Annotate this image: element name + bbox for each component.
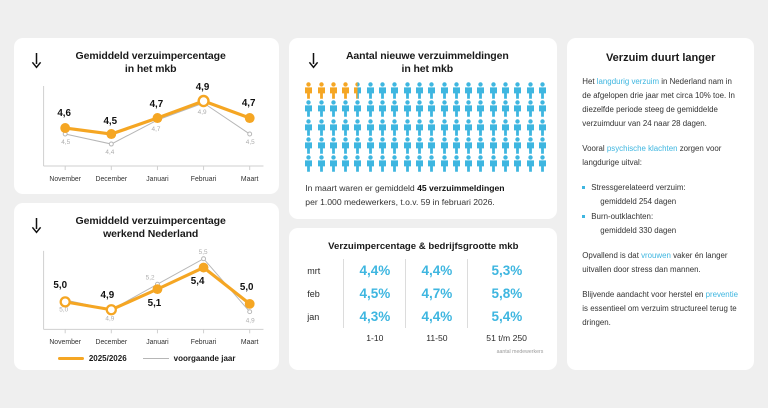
chart2-svg: 5,0 4,9 5,2 5,5 4,9 5,0 4,9 5,1 5,4 xyxy=(22,243,271,353)
person-icon xyxy=(525,100,536,117)
person-icon xyxy=(451,155,462,172)
right-column: Verzuim duurt langer Het langdurig verzu… xyxy=(567,38,754,370)
person-icon xyxy=(537,137,548,154)
svg-text:4,7: 4,7 xyxy=(152,126,161,133)
person-icon xyxy=(537,100,548,117)
cell-mrt-1-10: 4,4% xyxy=(344,259,406,282)
picto-title-line1: Aantal nieuwe verzuimmeldingen xyxy=(325,50,529,63)
person-icon xyxy=(475,100,486,117)
right-panel-body: Het langdurig verzuim in Nederland nam i… xyxy=(582,75,739,330)
table-footnote: aantal medewerkers xyxy=(301,347,545,355)
person-icon xyxy=(463,100,474,117)
person-icon xyxy=(500,155,511,172)
person-icon xyxy=(451,137,462,154)
column-label-51-250: 51 t/m 250 xyxy=(468,328,545,347)
person-icon xyxy=(340,100,351,117)
bullet-label-stress: Stressgerelateerd verzuim: xyxy=(591,183,685,192)
person-icon xyxy=(377,100,388,117)
legend-swatch-grey-icon xyxy=(143,358,169,359)
person-icon xyxy=(426,137,437,154)
column-label-1-10: 1-10 xyxy=(344,328,406,347)
person-icon xyxy=(463,82,474,99)
list-item: Burn-outklachten: gemiddeld 330 dagen xyxy=(582,210,739,238)
p4-text-b: is essentieel om verzuim structureel ter… xyxy=(582,304,736,327)
arrow-down-icon xyxy=(28,215,44,234)
person-icon xyxy=(475,82,486,99)
person-icon xyxy=(340,119,351,136)
chart1-svg: 4,5 4,4 4,7 4,9 4,5 4,6 4,5 4,7 4,9 xyxy=(22,78,271,190)
middle-column: Aantal nieuwe verzuimmeldingen in het mk… xyxy=(289,38,557,370)
picto-header: Aantal nieuwe verzuimmeldingen in het mk… xyxy=(299,48,547,76)
card-pictogram-meldingen: Aantal nieuwe verzuimmeldingen in het mk… xyxy=(289,38,557,219)
highlight-psychische-klachten: psychische klachten xyxy=(607,144,678,153)
person-icon xyxy=(475,119,486,136)
arrow-down-icon xyxy=(28,50,44,69)
picto-note-part1: In maart waren er gemiddeld xyxy=(305,183,417,193)
person-icon xyxy=(328,119,339,136)
svg-text:5,5: 5,5 xyxy=(199,249,208,256)
svg-text:Februari: Februari xyxy=(191,339,217,346)
person-icon xyxy=(340,82,351,99)
p2-text-a: Vooral xyxy=(582,144,607,153)
person-icon xyxy=(352,119,363,136)
person-icon xyxy=(303,119,314,136)
person-icon xyxy=(500,137,511,154)
card-chart-mkb: Gemiddeld verzuimpercentage in het mkb xyxy=(14,38,279,194)
person-icon xyxy=(512,100,523,117)
person-icon xyxy=(426,155,437,172)
person-icon xyxy=(316,82,327,99)
pictogram-grid xyxy=(299,76,551,176)
person-icon xyxy=(352,155,363,172)
chart2-header: Gemiddeld verzuimpercentage werkend Nede… xyxy=(22,213,271,241)
person-icon xyxy=(439,155,450,172)
person-icon xyxy=(377,137,388,154)
person-icon xyxy=(414,119,425,136)
left-column: Gemiddeld verzuimpercentage in het mkb xyxy=(14,38,279,370)
person-icon xyxy=(463,155,474,172)
card-table-bedrijfsgrootte: Verzuimpercentage & bedrijfsgrootte mkb … xyxy=(289,228,557,370)
paragraph-psychische-klachten: Vooral psychische klachten zorgen voor l… xyxy=(582,142,739,170)
person-icon xyxy=(500,119,511,136)
person-icon xyxy=(426,100,437,117)
p3-text-a: Opvallend is dat xyxy=(582,251,641,260)
chart2-title: Gemiddeld verzuimpercentage werkend Nede… xyxy=(48,215,267,241)
svg-text:4,5: 4,5 xyxy=(246,139,255,146)
person-icon xyxy=(488,137,499,154)
column-label-11-50: 11-50 xyxy=(406,328,468,347)
person-icon xyxy=(365,137,376,154)
svg-text:4,5: 4,5 xyxy=(103,116,117,127)
person-icon xyxy=(402,100,413,117)
person-icon xyxy=(451,100,462,117)
person-icon xyxy=(303,100,314,117)
person-icon xyxy=(512,155,523,172)
person-icon xyxy=(525,155,536,172)
person-icon xyxy=(303,155,314,172)
chart-legend: 2025/2026 voorgaande jaar xyxy=(22,353,271,366)
person-icon xyxy=(512,82,523,99)
svg-text:5,2: 5,2 xyxy=(146,274,155,281)
person-icon xyxy=(340,155,351,172)
svg-text:4,9: 4,9 xyxy=(196,82,210,93)
person-icon xyxy=(414,137,425,154)
chart1-title-line1: Gemiddeld verzuimpercentage xyxy=(48,50,253,63)
person-icon xyxy=(500,100,511,117)
person-icon xyxy=(365,155,376,172)
person-icon xyxy=(377,82,388,99)
picto-note-bold: 45 verzuimmeldingen xyxy=(417,183,504,193)
cell-jan-1-10: 4,3% xyxy=(344,305,406,328)
picto-note: In maart waren er gemiddeld 45 verzuimme… xyxy=(299,176,547,211)
bullet-value-burnout: gemiddeld 330 dagen xyxy=(591,224,739,238)
legend-swatch-orange-icon xyxy=(58,357,84,361)
chart2-plot: 5,0 4,9 5,2 5,5 4,9 5,0 4,9 5,1 5,4 xyxy=(22,243,271,353)
svg-text:5,4: 5,4 xyxy=(191,276,205,287)
person-icon xyxy=(414,155,425,172)
svg-text:Maart: Maart xyxy=(241,176,259,183)
arrow-down-icon xyxy=(305,50,321,69)
paragraph-langdurig-verzuim: Het langdurig verzuim in Nederland nam i… xyxy=(582,75,739,131)
svg-text:4,5: 4,5 xyxy=(61,139,70,146)
person-icon xyxy=(389,137,400,154)
person-icon xyxy=(488,100,499,117)
legend-label-current: 2025/2026 xyxy=(89,354,127,363)
p4-text-a: Blijvende aandacht voor herstel en xyxy=(582,290,705,299)
chart1-plot: 4,5 4,4 4,7 4,9 4,5 4,6 4,5 4,7 4,9 xyxy=(22,78,271,190)
svg-text:4,7: 4,7 xyxy=(150,99,164,110)
svg-text:Januari: Januari xyxy=(146,339,169,346)
list-item: Stressgerelateerd verzuim: gemiddeld 254… xyxy=(582,181,739,209)
svg-text:4,6: 4,6 xyxy=(57,108,71,119)
paragraph-vrouwen: Opvallend is dat vrouwen vaker én langer… xyxy=(582,249,739,277)
cell-feb-11-50: 4,7% xyxy=(406,282,468,305)
person-icon xyxy=(389,82,400,99)
highlight-vrouwen: vrouwen xyxy=(641,251,671,260)
person-icon xyxy=(340,137,351,154)
svg-text:December: December xyxy=(95,339,127,346)
person-icon xyxy=(352,82,363,99)
person-icon xyxy=(316,137,327,154)
legend-label-previous: voorgaande jaar xyxy=(174,354,236,363)
person-icon xyxy=(451,119,462,136)
picto-title-line2: in het mkb xyxy=(325,63,529,76)
person-icon xyxy=(402,119,413,136)
row-label-feb: feb xyxy=(301,282,344,305)
svg-text:4,9: 4,9 xyxy=(198,109,207,116)
person-icon xyxy=(316,100,327,117)
person-icon xyxy=(402,137,413,154)
person-icon xyxy=(303,137,314,154)
svg-text:Februari: Februari xyxy=(191,176,217,183)
person-icon xyxy=(488,155,499,172)
person-icon xyxy=(365,119,376,136)
chart2-title-line1: Gemiddeld verzuimpercentage xyxy=(48,215,253,228)
bullet-label-burnout: Burn-outklachten: xyxy=(591,212,653,221)
table-corner-cell xyxy=(301,328,344,347)
cell-jan-51-250: 5,4% xyxy=(468,305,545,328)
person-icon xyxy=(439,82,450,99)
svg-text:5,0: 5,0 xyxy=(240,282,254,293)
svg-text:4,9: 4,9 xyxy=(105,316,114,323)
right-panel-title: Verzuim duurt langer xyxy=(582,52,739,75)
bullet-list: Stressgerelateerd verzuim: gemiddeld 254… xyxy=(582,181,739,238)
row-label-mrt: mrt xyxy=(301,259,344,282)
chart1-header: Gemiddeld verzuimpercentage in het mkb xyxy=(22,48,271,76)
person-icon xyxy=(377,155,388,172)
svg-text:November: November xyxy=(49,176,81,183)
person-icon xyxy=(439,100,450,117)
person-icon xyxy=(512,137,523,154)
person-icon xyxy=(488,82,499,99)
p1-text-a: Het xyxy=(582,77,596,86)
person-icon xyxy=(463,137,474,154)
person-icon xyxy=(451,82,462,99)
cell-jan-11-50: 4,4% xyxy=(406,305,468,328)
cell-mrt-11-50: 4,4% xyxy=(406,259,468,282)
person-icon xyxy=(328,137,339,154)
cell-mrt-51-250: 5,3% xyxy=(468,259,545,282)
card-chart-nederland: Gemiddeld verzuimpercentage werkend Nede… xyxy=(14,203,279,370)
person-icon xyxy=(389,100,400,117)
highlight-langdurig-verzuim: langdurig verzuim xyxy=(597,77,659,86)
person-icon xyxy=(365,100,376,117)
dashboard: Gemiddeld verzuimpercentage in het mkb xyxy=(0,0,768,408)
person-icon xyxy=(414,100,425,117)
legend-item-previous: voorgaande jaar xyxy=(143,354,236,363)
person-icon xyxy=(439,137,450,154)
person-icon xyxy=(525,137,536,154)
person-icon xyxy=(537,82,548,99)
highlight-preventie: preventie xyxy=(706,290,738,299)
person-icon xyxy=(426,119,437,136)
svg-text:November: November xyxy=(49,339,81,346)
bedrijfsgrootte-table: mrt 4,4% 4,4% 5,3% feb 4,5% 4,7% 5,8% ja… xyxy=(301,259,545,347)
person-icon xyxy=(525,82,536,99)
person-icon xyxy=(328,82,339,99)
picto-note-part2: per 1.000 medewerkers, t.o.v. 59 in febr… xyxy=(305,197,495,207)
person-icon xyxy=(402,82,413,99)
svg-text:4,4: 4,4 xyxy=(105,149,114,156)
person-icon xyxy=(537,119,548,136)
person-icon xyxy=(439,119,450,136)
svg-text:4,7: 4,7 xyxy=(242,98,256,109)
legend-item-current: 2025/2026 xyxy=(58,354,127,363)
svg-text:4,9: 4,9 xyxy=(246,318,255,325)
person-icon xyxy=(537,155,548,172)
person-icon xyxy=(352,100,363,117)
svg-text:5,1: 5,1 xyxy=(148,298,162,309)
person-icon xyxy=(316,155,327,172)
person-icon xyxy=(512,119,523,136)
table-column-header-row: 1-10 11-50 51 t/m 250 xyxy=(301,328,545,347)
chart1-title-line2: in het mkb xyxy=(48,63,253,76)
svg-text:Januari: Januari xyxy=(146,176,169,183)
card-verzuim-duurt-langer: Verzuim duurt langer Het langdurig verzu… xyxy=(567,38,754,370)
chart2-title-line2: werkend Nederland xyxy=(48,228,253,241)
chart1-title: Gemiddeld verzuimpercentage in het mkb xyxy=(48,50,267,76)
paragraph-preventie: Blijvende aandacht voor herstel en preve… xyxy=(582,288,739,330)
bullet-value-stress: gemiddeld 254 dagen xyxy=(591,195,739,209)
person-icon xyxy=(352,137,363,154)
person-icon xyxy=(500,82,511,99)
cell-feb-51-250: 5,8% xyxy=(468,282,545,305)
person-icon xyxy=(328,100,339,117)
table-row: feb 4,5% 4,7% 5,8% xyxy=(301,282,545,305)
person-icon xyxy=(488,119,499,136)
person-icon xyxy=(365,82,376,99)
person-icon xyxy=(475,137,486,154)
svg-text:4,9: 4,9 xyxy=(101,290,115,301)
svg-text:5,0: 5,0 xyxy=(59,307,68,314)
person-icon xyxy=(303,82,314,99)
svg-text:Maart: Maart xyxy=(241,339,259,346)
svg-text:5,0: 5,0 xyxy=(53,280,67,291)
cell-feb-1-10: 4,5% xyxy=(344,282,406,305)
person-icon xyxy=(426,82,437,99)
person-icon xyxy=(377,119,388,136)
person-icon xyxy=(475,155,486,172)
table-row: mrt 4,4% 4,4% 5,3% xyxy=(301,259,545,282)
picto-title: Aantal nieuwe verzuimmeldingen in het mk… xyxy=(325,50,543,76)
svg-text:December: December xyxy=(96,176,128,183)
row-label-jan: jan xyxy=(301,305,344,328)
person-icon xyxy=(316,119,327,136)
table-title: Verzuimpercentage & bedrijfsgrootte mkb xyxy=(301,238,545,259)
person-icon xyxy=(328,155,339,172)
person-icon xyxy=(414,82,425,99)
person-icon xyxy=(389,155,400,172)
person-icon xyxy=(525,119,536,136)
table-row: jan 4,3% 4,4% 5,4% xyxy=(301,305,545,328)
person-icon xyxy=(463,119,474,136)
person-icon xyxy=(389,119,400,136)
person-icon xyxy=(402,155,413,172)
